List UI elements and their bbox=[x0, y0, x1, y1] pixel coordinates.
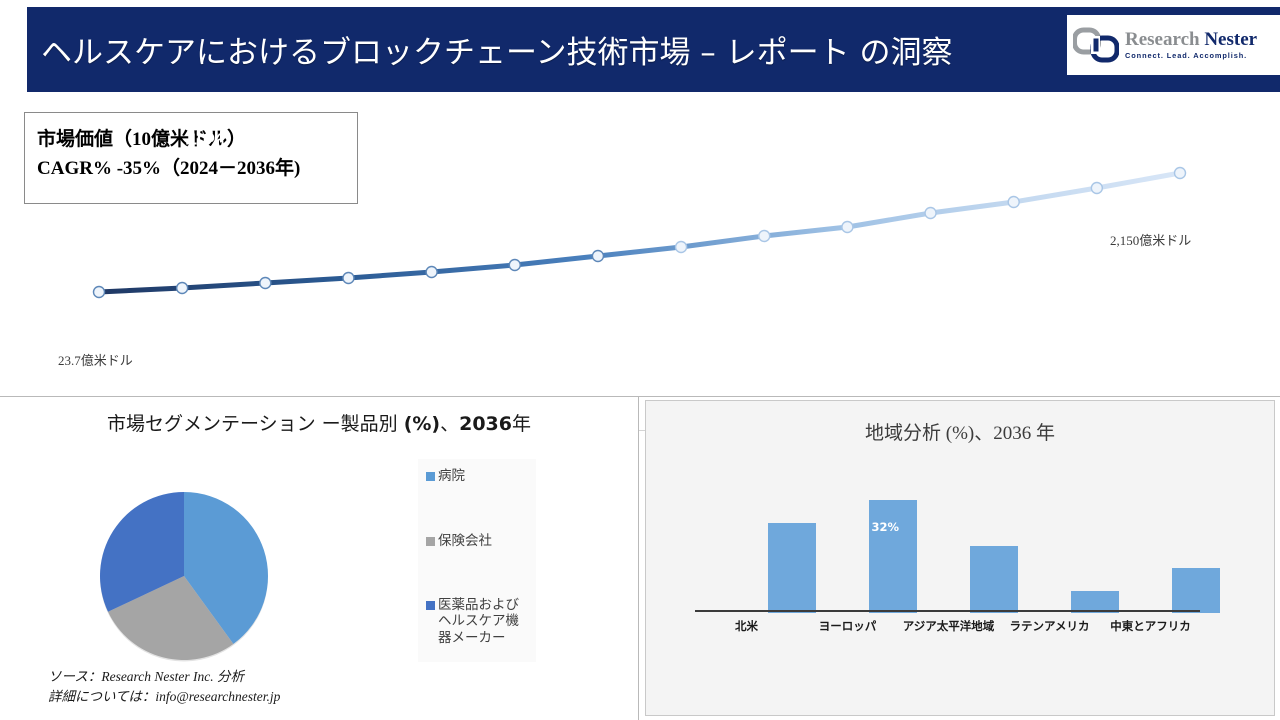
pie-title-part4: 2036 bbox=[459, 413, 512, 435]
regional-analysis-panel: 地域分析 (%)、2036 年 32% bbox=[645, 400, 1275, 716]
bar-chart-category-labels: 北米ヨーロッパアジア太平洋地域ラテンアメリカ中東とアフリカ bbox=[695, 618, 1200, 640]
source-line: ソース：Research Nester Inc. 分析 bbox=[48, 667, 280, 687]
pie-title-part3: 、 bbox=[440, 413, 459, 435]
line-data-point bbox=[842, 222, 853, 233]
line-data-point bbox=[925, 208, 936, 219]
legend-swatch-icon bbox=[426, 601, 435, 610]
bar-column bbox=[1145, 463, 1246, 613]
source-note: ソース：Research Nester Inc. 分析 詳細については：info… bbox=[48, 667, 280, 708]
logo-name-nester: Nester bbox=[1204, 29, 1257, 50]
bar-column bbox=[943, 463, 1044, 613]
pie-slice-data-label: 40% bbox=[186, 131, 224, 153]
bar-chart-title: 地域分析 (%)、2036 年 bbox=[646, 418, 1274, 445]
line-data-point bbox=[426, 267, 437, 278]
vertical-divider bbox=[638, 396, 639, 720]
bar-column bbox=[741, 463, 842, 613]
legend-swatch-icon bbox=[426, 537, 435, 546]
logo-text-block: Research Nester Connect. Lead. Accomplis… bbox=[1125, 30, 1257, 59]
line-data-point bbox=[1091, 183, 1102, 194]
line-data-point bbox=[1175, 168, 1186, 179]
line-data-point bbox=[343, 273, 354, 284]
pie-chart-title: 市場セグメンテーション ー製品別 (%)、2036年 bbox=[0, 409, 638, 436]
logo-name-research: Research bbox=[1125, 29, 1204, 50]
contact-line: 詳細については：info@researchnester.jp bbox=[48, 687, 280, 707]
legend-item-insurance[interactable]: 保険会社 bbox=[426, 533, 492, 549]
bar-category-label: 北米 bbox=[735, 618, 758, 634]
bar-column bbox=[1044, 463, 1145, 613]
bar-data-label: 32% bbox=[869, 520, 917, 534]
bar-category-label: ラテンアメリカ bbox=[1010, 618, 1090, 634]
legend-item-hospital[interactable]: 病院 bbox=[426, 468, 465, 484]
legend-label-line3: 器メーカー bbox=[438, 630, 506, 646]
pie-title-part2: (%) bbox=[404, 413, 440, 435]
bar-category-label: ヨーロッパ bbox=[819, 618, 877, 634]
bar-chart-baseline bbox=[695, 610, 1200, 612]
start-value-label: 23.7億米ドル bbox=[58, 350, 133, 369]
line-data-point bbox=[1008, 197, 1019, 208]
legend-label-line2: ヘルスケア機 bbox=[438, 613, 519, 629]
pie-chart-svg bbox=[98, 490, 270, 662]
end-value-label: 2,150億米ドル bbox=[1110, 230, 1191, 249]
line-data-point bbox=[676, 242, 687, 253]
line-data-point bbox=[94, 287, 105, 298]
bar-rect[interactable] bbox=[970, 546, 1018, 613]
legend-label: 医薬品および ヘルスケア機 器メーカー bbox=[438, 597, 519, 646]
research-nester-logo: Research Nester Connect. Lead. Accomplis… bbox=[1067, 15, 1280, 75]
legend-swatch-icon bbox=[426, 472, 435, 481]
header-banner: ヘルスケアにおけるブロックチェーン技術市場 – レポート の洞察 Researc… bbox=[27, 7, 1280, 92]
page-title: ヘルスケアにおけるブロックチェーン技術市場 – レポート の洞察 bbox=[41, 27, 953, 72]
legend-label: 保険会社 bbox=[438, 533, 492, 549]
legend-label: 病院 bbox=[438, 468, 465, 484]
line-data-point bbox=[509, 260, 520, 271]
bar-chart-plot-area: 32% bbox=[696, 463, 1226, 613]
line-data-point bbox=[759, 231, 770, 242]
bar-category-label: アジア太平洋地域 bbox=[903, 618, 995, 634]
line-data-point bbox=[260, 278, 271, 289]
line-data-point bbox=[177, 283, 188, 294]
bar-rect[interactable] bbox=[1172, 568, 1220, 613]
legend-label-line1: 医薬品および bbox=[438, 597, 519, 613]
logo-name: Research Nester bbox=[1125, 30, 1257, 49]
line-series-path bbox=[99, 173, 1180, 292]
legend-item-pharma[interactable]: 医薬品および ヘルスケア機 器メーカー bbox=[426, 597, 519, 646]
bar-category-label: 中東とアフリカ bbox=[1110, 618, 1191, 634]
line-markers-group bbox=[94, 168, 1186, 298]
pie-title-part1: 市場セグメンテーション ー製品別 bbox=[107, 413, 404, 435]
bar-column: 32% bbox=[842, 463, 943, 613]
bar-rect[interactable] bbox=[768, 523, 816, 613]
bar-rect[interactable] bbox=[869, 500, 917, 613]
chain-link-logo-icon bbox=[1073, 27, 1119, 63]
line-data-point bbox=[592, 251, 603, 262]
logo-tagline: Connect. Lead. Accomplish. bbox=[1125, 52, 1257, 59]
pie-chart-legend: 病院 保険会社 医薬品および ヘルスケア機 器メーカー bbox=[418, 459, 536, 662]
pie-title-part5: 年 bbox=[512, 413, 531, 435]
